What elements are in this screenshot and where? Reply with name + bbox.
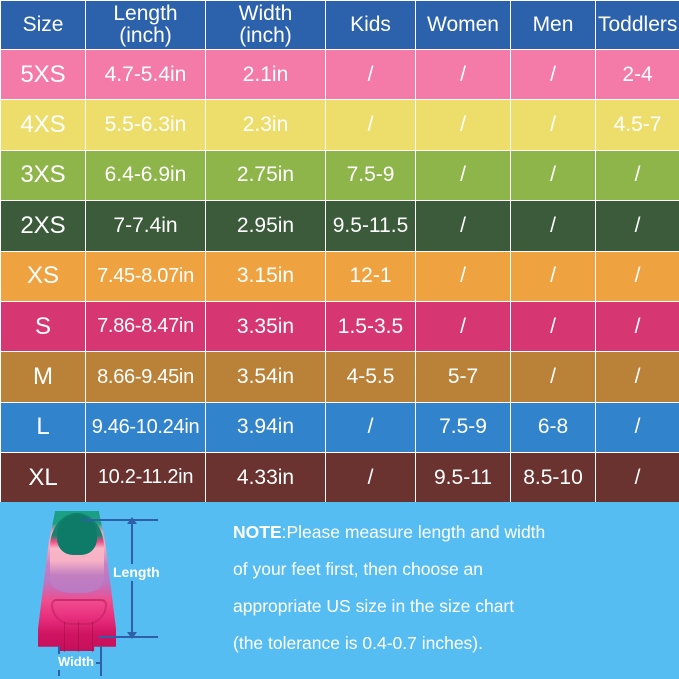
cell-kids: / (326, 50, 416, 100)
cell-size: XL (1, 453, 86, 503)
table-header: Size Length (inch) Width (inch) Kids Wom… (1, 1, 679, 50)
cell-toddlers: / (596, 251, 679, 301)
table-row: XL10.2-11.2in4.33in/9.5-118.5-10/ (1, 453, 679, 503)
note-line-4: (the tolerance is 0.4-0.7 inches). (233, 625, 663, 662)
cell-width: 2.75in (206, 150, 326, 200)
column-header-toddlers-label: Toddlers (598, 13, 677, 36)
cell-kids: 1.5-3.5 (326, 301, 416, 351)
column-header-toddlers: Toddlers (596, 1, 679, 50)
cell-women: / (416, 100, 511, 150)
table-row: L9.46-10.24in3.94in/7.5-96-8/ (1, 402, 679, 452)
cell-toddlers: / (596, 352, 679, 402)
cell-length: 7.45-8.07in (86, 251, 206, 301)
cell-kids: 4-5.5 (326, 352, 416, 402)
table-body: 5XS4.7-5.4in2.1in///2-44XS5.5-6.3in2.3in… (1, 50, 679, 504)
cell-toddlers: / (596, 150, 679, 200)
cell-length: 6.4-6.9in (86, 150, 206, 200)
cell-size: 4XS (1, 100, 86, 150)
fin-ridge-icon (92, 622, 93, 652)
cell-size: 5XS (1, 50, 86, 100)
cell-men: / (511, 251, 596, 301)
note-line-3: appropriate US size in the size chart (233, 588, 663, 625)
table-row: 5XS4.7-5.4in2.1in///2-4 (1, 50, 679, 100)
length-arrow-up-icon (127, 517, 137, 524)
width-label: Width (56, 654, 96, 670)
note-line-1-text: Please measure length and width (287, 522, 546, 542)
cell-length: 10.2-11.2in (86, 453, 206, 503)
note-line-2: of your feet first, then choose an (233, 551, 663, 588)
cell-kids: / (326, 402, 416, 452)
cell-women: / (416, 150, 511, 200)
cell-toddlers: / (596, 453, 679, 503)
note-text: NOTE:Please measure length and width of … (233, 514, 663, 662)
cell-width: 2.95in (206, 201, 326, 251)
column-header-length-unit: (inch) (88, 25, 203, 47)
length-arrow-down-icon (127, 632, 137, 639)
cell-kids: 12-1 (326, 251, 416, 301)
cell-kids: 7.5-9 (326, 150, 416, 200)
cell-width: 3.35in (206, 301, 326, 351)
swim-fin-illustration: Length Width (0, 502, 210, 679)
note-line-1: NOTE:Please measure length and width (233, 514, 663, 551)
note-panel: Length Width NOTE:Please measure length … (0, 502, 679, 679)
column-header-length: Length (inch) (86, 1, 206, 50)
cell-kids: / (326, 100, 416, 150)
length-label: Length (110, 564, 163, 581)
column-header-women: Women (416, 1, 511, 50)
column-header-width-unit: (inch) (208, 25, 323, 47)
cell-toddlers: 2-4 (596, 50, 679, 100)
cell-men: / (511, 301, 596, 351)
cell-size: XS (1, 251, 86, 301)
cell-kids: 9.5-11.5 (326, 201, 416, 251)
cell-toddlers: / (596, 402, 679, 452)
column-header-kids: Kids (326, 1, 416, 50)
fin-ridge-icon (78, 622, 79, 652)
column-header-length-label: Length (113, 2, 177, 25)
cell-men: 6-8 (511, 402, 596, 452)
column-header-width: Width (inch) (206, 1, 326, 50)
table-row: 3XS6.4-6.9in2.75in7.5-9/// (1, 150, 679, 200)
cell-women: / (416, 301, 511, 351)
cell-men: / (511, 100, 596, 150)
column-header-men: Men (511, 1, 596, 50)
cell-men: / (511, 50, 596, 100)
cell-men: / (511, 201, 596, 251)
fin-toe-opening-icon (57, 515, 97, 555)
cell-length: 5.5-6.3in (86, 100, 206, 150)
table-row: S7.86-8.47in3.35in1.5-3.5/// (1, 301, 679, 351)
cell-men: / (511, 150, 596, 200)
cell-toddlers: / (596, 201, 679, 251)
column-header-kids-label: Kids (350, 13, 391, 36)
cell-width: 2.1in (206, 50, 326, 100)
cell-women: / (416, 201, 511, 251)
cell-width: 2.3in (206, 100, 326, 150)
fin-ridge-icon (64, 622, 65, 652)
cell-length: 4.7-5.4in (86, 50, 206, 100)
cell-width: 4.33in (206, 453, 326, 503)
cell-length: 8.66-9.45in (86, 352, 206, 402)
table-row: 2XS7-7.4in2.95in9.5-11.5/// (1, 201, 679, 251)
cell-width: 3.94in (206, 402, 326, 452)
table-row: XS7.45-8.07in3.15in12-1/// (1, 251, 679, 301)
length-extension-line-top (82, 519, 158, 521)
cell-women: 5-7 (416, 352, 511, 402)
table-row: 4XS5.5-6.3in2.3in///4.5-7 (1, 100, 679, 150)
size-chart-table: Size Length (inch) Width (inch) Kids Wom… (0, 0, 679, 504)
cell-size: 3XS (1, 150, 86, 200)
column-header-size-label: Size (23, 13, 64, 36)
width-extension-line-right (100, 646, 102, 676)
cell-toddlers: 4.5-7 (596, 100, 679, 150)
cell-length: 7-7.4in (86, 201, 206, 251)
cell-size: L (1, 402, 86, 452)
cell-length: 9.46-10.24in (86, 402, 206, 452)
cell-women: / (416, 50, 511, 100)
cell-men: 8.5-10 (511, 453, 596, 503)
table-row: M8.66-9.45in3.54in4-5.55-7// (1, 352, 679, 402)
column-header-size: Size (1, 1, 86, 50)
size-chart-page: Size Length (inch) Width (inch) Kids Wom… (0, 0, 679, 679)
cell-size: S (1, 301, 86, 351)
cell-length: 7.86-8.47in (86, 301, 206, 351)
cell-size: M (1, 352, 86, 402)
cell-women: / (416, 251, 511, 301)
column-header-width-label: Width (239, 2, 293, 25)
cell-toddlers: / (596, 301, 679, 351)
cell-men: / (511, 352, 596, 402)
column-header-women-label: Women (427, 13, 499, 36)
header-row: Size Length (inch) Width (inch) Kids Wom… (1, 1, 679, 50)
cell-women: 7.5-9 (416, 402, 511, 452)
cell-width: 3.54in (206, 352, 326, 402)
cell-size: 2XS (1, 201, 86, 251)
cell-kids: / (326, 453, 416, 503)
column-header-men-label: Men (533, 13, 574, 36)
cell-width: 3.15in (206, 251, 326, 301)
cell-women: 9.5-11 (416, 453, 511, 503)
note-label: NOTE (233, 522, 282, 542)
